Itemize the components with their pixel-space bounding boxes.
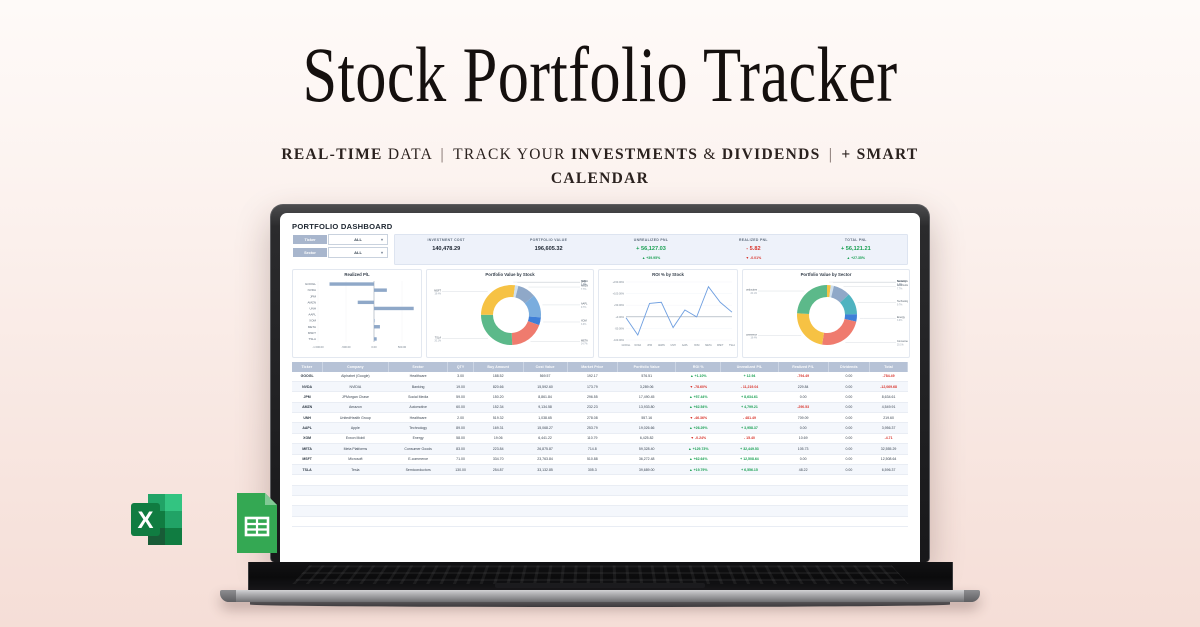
table-cell: AMZN bbox=[292, 402, 322, 412]
svg-text:Semiconductors: Semiconductors bbox=[746, 288, 758, 291]
table-cell: 0.00 bbox=[828, 381, 870, 391]
svg-text:JPM: JPM bbox=[581, 280, 586, 283]
subtitle-part-1: DATA bbox=[383, 146, 438, 163]
table-cell: + 8,634.61 bbox=[721, 392, 778, 402]
svg-text:+0.00%: +0.00% bbox=[615, 315, 624, 318]
table-cell: XOM bbox=[292, 433, 322, 443]
table-cell: 10.69 bbox=[778, 433, 828, 443]
table-cell-empty bbox=[828, 475, 870, 485]
table-header: TickerCompanySectorQTYBuy AmountCost Val… bbox=[292, 362, 908, 372]
table-cell: 17,490.45 bbox=[617, 392, 675, 402]
table-cell: 192.17 bbox=[567, 372, 617, 382]
svg-text:9.7%: 9.7% bbox=[581, 306, 586, 308]
table-cell-empty bbox=[448, 475, 474, 485]
column-header[interactable]: Unrealized P/L bbox=[721, 362, 778, 372]
table-cell: + 3,958.37 bbox=[721, 423, 778, 433]
table-row[interactable]: GOOGLAlphabet (Google)Healthcare3.00188.… bbox=[292, 372, 908, 382]
table-row-empty bbox=[292, 485, 908, 495]
table-body: GOOGLAlphabet (Google)Healthcare3.00188.… bbox=[292, 372, 908, 527]
table-cell-empty bbox=[870, 506, 908, 516]
table-cell-empty bbox=[448, 496, 474, 506]
kpi-label: INVESTMENT COST bbox=[395, 238, 497, 242]
table-cell: 26,875.87 bbox=[523, 444, 567, 454]
table-row-empty bbox=[292, 506, 908, 516]
table-cell: 0.00 bbox=[828, 433, 870, 443]
table-cell-empty bbox=[389, 516, 448, 526]
table-cell-empty bbox=[473, 516, 523, 526]
table-cell: 188.52 bbox=[473, 372, 523, 382]
table-cell: Technology bbox=[389, 423, 448, 433]
column-header[interactable]: Sector bbox=[389, 362, 448, 372]
table-cell-empty bbox=[292, 496, 322, 506]
svg-text:19.4%: 19.4% bbox=[750, 337, 757, 339]
table-cell: Tesla bbox=[322, 464, 388, 474]
column-header[interactable]: Total bbox=[870, 362, 908, 372]
table-cell-empty bbox=[322, 496, 388, 506]
kpi-label: TOTAL PNL bbox=[805, 238, 907, 242]
table-cell-empty bbox=[870, 496, 908, 506]
table-cell: ▲ +1.10% bbox=[676, 372, 721, 382]
table-cell-empty bbox=[778, 496, 828, 506]
svg-text:AMZN: AMZN bbox=[658, 344, 665, 347]
table-cell-empty bbox=[870, 516, 908, 526]
kpi-label: REALIZED PNL bbox=[702, 238, 804, 242]
chart-title: Portfolio Value by Sector bbox=[746, 272, 906, 277]
table-cell-empty bbox=[473, 496, 523, 506]
table-cell: 2.00 bbox=[448, 413, 474, 423]
svg-text:500.00: 500.00 bbox=[398, 345, 407, 349]
svg-text:META: META bbox=[308, 324, 316, 328]
table-cell: 19,026.66 bbox=[617, 423, 675, 433]
table-cell: 557.16 bbox=[617, 413, 675, 423]
kpi-value: - 5.82 bbox=[702, 246, 804, 252]
table-cell-empty bbox=[567, 506, 617, 516]
table-cell: 8,634.61 bbox=[870, 392, 908, 402]
chart-title: ROI % by Stock bbox=[602, 272, 734, 277]
table-cell: 152.34 bbox=[473, 402, 523, 412]
svg-text:AAPL: AAPL bbox=[682, 344, 689, 347]
stock-donut-chart: NVDA1.7%JPM1.4%AMZN7.7%AAPL9.7%XOM3.3%ME… bbox=[430, 278, 592, 354]
filter-dropdown-sector[interactable]: ALL▾ bbox=[328, 247, 388, 258]
table-cell: -794.49 bbox=[778, 372, 828, 382]
table-cell: 305.3 bbox=[567, 464, 617, 474]
svg-text:XOM: XOM bbox=[581, 319, 587, 322]
svg-text:Automotive: Automotive bbox=[897, 284, 908, 287]
kpi-value: 196,605.32 bbox=[497, 246, 599, 252]
table-cell: 150.20 bbox=[473, 392, 523, 402]
filter-dropdown-ticker[interactable]: ALL▾ bbox=[328, 234, 388, 245]
table-cell: 110.79 bbox=[567, 433, 617, 443]
filter-panel: TickerALL▾SectorALL▾ bbox=[292, 234, 388, 265]
filter-label: Sector bbox=[292, 247, 328, 258]
table-cell: 58.00 bbox=[448, 433, 474, 443]
subtitle-part-3: TRACK YOUR bbox=[453, 146, 571, 163]
table-cell: Alphabet (Google) bbox=[322, 372, 388, 382]
svg-text:XOM: XOM bbox=[309, 318, 316, 322]
kpi-value: + 56,127.03 bbox=[600, 246, 702, 252]
table-cell: 714.8 bbox=[567, 444, 617, 454]
svg-text:-500.00: -500.00 bbox=[341, 345, 351, 349]
table-cell-empty bbox=[721, 485, 778, 495]
table-cell-empty bbox=[567, 496, 617, 506]
svg-text:3.3%: 3.3% bbox=[897, 320, 902, 322]
table-cell: 254.87 bbox=[473, 464, 523, 474]
svg-text:NVDA: NVDA bbox=[634, 344, 641, 347]
table-cell: 19.06 bbox=[473, 433, 523, 443]
table-cell: 39,689.00 bbox=[617, 464, 675, 474]
table-cell: 3.00 bbox=[448, 372, 474, 382]
svg-text:7.7%: 7.7% bbox=[581, 289, 586, 291]
table-cell: 13,933.80 bbox=[617, 402, 675, 412]
table-cell: 0.00 bbox=[828, 372, 870, 382]
table-cell-empty bbox=[473, 506, 523, 516]
table-cell-empty bbox=[828, 516, 870, 526]
svg-text:9.7%: 9.7% bbox=[897, 304, 902, 306]
table-cell-empty bbox=[389, 496, 448, 506]
table-cell: JPMorgan Chase bbox=[322, 392, 388, 402]
chart-title: Portfolio Value by Stock bbox=[430, 272, 590, 277]
table-cell: 33,132.85 bbox=[523, 464, 567, 474]
chevron-down-icon: ▾ bbox=[381, 237, 383, 242]
svg-text:20.1%: 20.1% bbox=[434, 340, 441, 342]
table-cell: 576.51 bbox=[617, 372, 675, 382]
table-cell: 0.00 bbox=[828, 423, 870, 433]
table-cell: E-commerce bbox=[389, 454, 448, 464]
table-cell-empty bbox=[389, 485, 448, 495]
table-cell: 229.84 bbox=[778, 381, 828, 391]
svg-text:MSFT: MSFT bbox=[308, 330, 316, 334]
realized-pl-barchart: GOOGLNVDAJPMAMZNUNHAAPLXOMMETAMSFTTSLA-1… bbox=[296, 278, 420, 354]
svg-text:JPM: JPM bbox=[647, 344, 652, 347]
table-cell: 83.00 bbox=[448, 444, 474, 454]
page-title: Stock Portfolio Tracker bbox=[120, 0, 1080, 114]
table-cell-empty bbox=[448, 516, 474, 526]
kpi-card: INVESTMENT COST140,478.29 bbox=[395, 238, 497, 260]
table-cell: 820.66 bbox=[473, 381, 523, 391]
svg-text:NVDA: NVDA bbox=[308, 288, 316, 292]
table-cell: -784.49 bbox=[870, 372, 908, 382]
svg-text:META: META bbox=[581, 339, 588, 342]
holdings-table: TickerCompanySectorQTYBuy AmountCost Val… bbox=[292, 362, 908, 528]
table-cell-empty bbox=[322, 475, 388, 485]
table-cell: + 12.94 bbox=[721, 372, 778, 382]
table-cell: 59,328.40 bbox=[617, 444, 675, 454]
laptop-keyboard-deck bbox=[248, 562, 953, 590]
table-cell-empty bbox=[448, 506, 474, 516]
column-header[interactable]: ROI % bbox=[676, 362, 721, 372]
table-row[interactable]: JPMJPMorgan ChaseSocial Media59.00150.20… bbox=[292, 392, 908, 402]
subtitle-part-4: INVESTMENTS bbox=[571, 146, 698, 163]
subtitle-part-0: REAL-TIME bbox=[281, 146, 382, 163]
table-cell: 296.55 bbox=[567, 392, 617, 402]
page-subtitle: REAL-TIME DATA | TRACK YOUR INVESTMENTS … bbox=[0, 143, 1200, 191]
table-cell-empty bbox=[292, 475, 322, 485]
kpi-value: 140,478.29 bbox=[395, 246, 497, 252]
table-cell-empty bbox=[448, 485, 474, 495]
chart-title: Realized P/L bbox=[296, 272, 418, 277]
chart-roi-by-stock: ROI % by Stock +150.00%+100.00%+50.00%+0… bbox=[598, 269, 738, 358]
table-cell-empty bbox=[292, 506, 322, 516]
table-cell-empty bbox=[721, 516, 778, 526]
table-cell-empty bbox=[828, 496, 870, 506]
table-cell-empty bbox=[292, 516, 322, 526]
table-cell: 0.00 bbox=[778, 392, 828, 402]
sector-donut-chart: Banking1.7%Social Media1.4%Automotive7.7… bbox=[746, 278, 908, 354]
chart-realized-pl: Realized P/L GOOGLNVDAJPMAMZNUNHAAPLXOMM… bbox=[292, 269, 422, 358]
table-cell: ▲ +62.64% bbox=[676, 454, 721, 464]
table-row[interactable]: NVDANVIDIABanking19.00820.6615,592.60173… bbox=[292, 381, 908, 391]
table-cell-empty bbox=[322, 516, 388, 526]
table-cell: 6,596.37 bbox=[870, 464, 908, 474]
svg-text:X: X bbox=[137, 507, 153, 534]
table-cell: 232.23 bbox=[567, 402, 617, 412]
table-cell: - 11,219.04 bbox=[721, 381, 778, 391]
kpi-label: PORTFOLIO VALUE bbox=[497, 238, 599, 242]
table-cell: -12,069.68 bbox=[870, 381, 908, 391]
svg-text:UNH: UNH bbox=[671, 344, 676, 347]
table-cell: 0.00 bbox=[828, 413, 870, 423]
svg-text:TSLA: TSLA bbox=[435, 336, 442, 339]
table-cell-empty bbox=[322, 506, 388, 516]
table-cell: + 4,799.21 bbox=[721, 402, 778, 412]
table-cell: 0.00 bbox=[828, 464, 870, 474]
svg-text:E-commerce: E-commerce bbox=[746, 333, 758, 336]
table-cell-empty bbox=[676, 516, 721, 526]
svg-text:TSLA: TSLA bbox=[308, 337, 316, 341]
google-sheets-icon[interactable] bbox=[221, 488, 291, 558]
column-header[interactable]: Market Price bbox=[567, 362, 617, 372]
table-cell-empty bbox=[828, 485, 870, 495]
svg-text:-100.00%: -100.00% bbox=[613, 339, 624, 342]
table-cell: Exxon Mobil bbox=[322, 433, 388, 443]
filter-row-ticker: TickerALL▾ bbox=[292, 234, 388, 245]
svg-text:GOOGL: GOOGL bbox=[305, 282, 316, 286]
column-header[interactable]: Portfolio Value bbox=[617, 362, 675, 372]
table-cell: 23,763.84 bbox=[523, 454, 567, 464]
table-cell: ▲ +129.73% bbox=[676, 444, 721, 454]
svg-text:0.00: 0.00 bbox=[371, 345, 377, 349]
svg-text:TSLA: TSLA bbox=[729, 344, 735, 347]
svg-text:AMZN: AMZN bbox=[581, 284, 588, 287]
table-cell-empty bbox=[676, 485, 721, 495]
table-cell-empty bbox=[389, 506, 448, 516]
table-cell-empty bbox=[523, 475, 567, 485]
svg-text:20.1%: 20.1% bbox=[750, 293, 757, 295]
table-cell: 0.00 bbox=[828, 444, 870, 454]
table-cell-empty bbox=[870, 475, 908, 485]
table-cell-empty bbox=[721, 506, 778, 516]
app-icons: X bbox=[127, 488, 291, 558]
table-cell-empty bbox=[523, 496, 567, 506]
table-cell: 253.79 bbox=[567, 423, 617, 433]
table-cell: UNH bbox=[292, 413, 322, 423]
kpi-card: PORTFOLIO VALUE196,605.32 bbox=[497, 238, 599, 260]
kpi-value: + 56,121.21 bbox=[805, 246, 907, 252]
svg-text:+50.00%: +50.00% bbox=[614, 304, 625, 307]
svg-text:META: META bbox=[705, 344, 712, 347]
table-cell: 6,441.22 bbox=[523, 433, 567, 443]
table-cell: ▼ -46.36% bbox=[676, 413, 721, 423]
svg-text:14.7%: 14.7% bbox=[581, 343, 588, 345]
table-cell-empty bbox=[523, 516, 567, 526]
table-cell: 519.32 bbox=[473, 413, 523, 423]
svg-text:7.7%: 7.7% bbox=[897, 288, 902, 290]
table-cell: MSFT bbox=[292, 454, 322, 464]
table-cell-empty bbox=[567, 516, 617, 526]
subtitle-part-6: DIVIDENDS bbox=[722, 146, 821, 163]
table-cell: NVDA bbox=[292, 381, 322, 391]
table-cell: 15,068.27 bbox=[523, 423, 567, 433]
table-cell: 12,508.64 bbox=[870, 454, 908, 464]
table-cell-empty bbox=[778, 516, 828, 526]
svg-text:Energy: Energy bbox=[897, 315, 906, 318]
laptop-lid: PORTFOLIO DASHBOARD TickerALL▾SectorALL▾… bbox=[270, 204, 930, 562]
svg-text:-1 000.00: -1 000.00 bbox=[312, 345, 324, 349]
chart-portfolio-value-by-sector: Portfolio Value by Sector Banking1.7%Soc… bbox=[742, 269, 910, 358]
table-cell: 709.09 bbox=[778, 413, 828, 423]
table-row[interactable]: METAMeta PlatformsConsumer Goods83.00223… bbox=[292, 444, 908, 454]
table-cell: 0.00 bbox=[828, 454, 870, 464]
kpi-delta: ▲ +39.95% bbox=[600, 256, 702, 260]
excel-icon[interactable]: X bbox=[127, 488, 197, 558]
kpi-label: UNREALIZED PNL bbox=[600, 238, 702, 242]
table-cell: 105.73 bbox=[778, 444, 828, 454]
table-cell: 48.22 bbox=[778, 464, 828, 474]
table-cell: 0.00 bbox=[828, 402, 870, 412]
kpi-strip: INVESTMENT COST140,478.29PORTFOLIO VALUE… bbox=[394, 234, 908, 265]
charts-row: Realized P/L GOOGLNVDAJPMAMZNUNHAAPLXOMM… bbox=[288, 265, 912, 358]
table-cell: 278.08 bbox=[567, 413, 617, 423]
table-cell: META bbox=[292, 444, 322, 454]
table-cell-empty bbox=[567, 475, 617, 485]
table-row[interactable]: XOMExxon MobilEnergy58.0019.066,441.2211… bbox=[292, 433, 908, 443]
table-row[interactable]: AMZNAmazonAutomotive60.00152.349,134.582… bbox=[292, 402, 908, 412]
dashboard-title: PORTFOLIO DASHBOARD bbox=[288, 220, 912, 234]
table-row[interactable]: UNHUnitedHealth GroupHealthcare2.00519.3… bbox=[292, 413, 908, 423]
svg-text:MSFT: MSFT bbox=[434, 289, 441, 292]
kpi-delta: ▲ +27.35% bbox=[805, 256, 907, 260]
table-cell-empty bbox=[473, 475, 523, 485]
column-header[interactable]: Buy Amount bbox=[473, 362, 523, 372]
column-header[interactable]: Ticker bbox=[292, 362, 322, 372]
table-row[interactable]: MSFTMicrosoftE-commerce71.00334.7023,763… bbox=[292, 454, 908, 464]
table-cell: -290.53 bbox=[778, 402, 828, 412]
table-cell: 8,861.84 bbox=[523, 392, 567, 402]
chevron-down-icon: ▾ bbox=[381, 250, 383, 255]
table-cell: ▼ -0.24% bbox=[676, 433, 721, 443]
table-cell: Healthcare bbox=[389, 413, 448, 423]
svg-text:AMZN: AMZN bbox=[308, 300, 317, 304]
subtitle-separator: | bbox=[821, 146, 842, 163]
svg-text:XOM: XOM bbox=[694, 344, 699, 347]
table-cell: ▼ -78.60% bbox=[676, 381, 721, 391]
subtitle-part-5: & bbox=[698, 146, 722, 163]
column-header[interactable]: QTY bbox=[448, 362, 474, 372]
column-header[interactable]: Realized P/L bbox=[778, 362, 828, 372]
table-cell: Automotive bbox=[389, 402, 448, 412]
roi-linechart: +150.00%+100.00%+50.00%+0.00%-50.00%-100… bbox=[602, 278, 736, 354]
table-cell: 219.60 bbox=[870, 413, 908, 423]
table-cell: 0.00 bbox=[778, 454, 828, 464]
table-cell-empty bbox=[676, 506, 721, 516]
table-cell: 3,289.06 bbox=[617, 381, 675, 391]
table-cell-empty bbox=[778, 506, 828, 516]
filter-row-sector: SectorALL▾ bbox=[292, 247, 388, 258]
table-cell: Apple bbox=[322, 423, 388, 433]
table-cell-empty bbox=[617, 506, 675, 516]
column-header[interactable]: Company bbox=[322, 362, 388, 372]
table-cell: 15,592.60 bbox=[523, 381, 567, 391]
table-cell-empty bbox=[617, 516, 675, 526]
svg-text:-50.00%: -50.00% bbox=[615, 327, 625, 330]
table-cell: ▲ +19.79% bbox=[676, 464, 721, 474]
table-cell: - 481.49 bbox=[721, 413, 778, 423]
table-cell: Consumer Goods bbox=[389, 444, 448, 454]
kpi-delta: ▼ -0.01% bbox=[702, 256, 804, 260]
kpi-card: TOTAL PNL+ 56,121.21▲ +27.35% bbox=[805, 238, 907, 260]
table-cell: 334.70 bbox=[473, 454, 523, 464]
table-cell: Amazon bbox=[322, 402, 388, 412]
table-cell-empty bbox=[322, 485, 388, 495]
table-cell: 4,549.91 bbox=[870, 402, 908, 412]
table-row-empty bbox=[292, 475, 908, 485]
table-cell: Banking bbox=[389, 381, 448, 391]
table-cell: Microsoft bbox=[322, 454, 388, 464]
table-cell-empty bbox=[473, 485, 523, 495]
table-cell: Meta Platforms bbox=[322, 444, 388, 454]
table-row[interactable]: TSLATeslaSemiconductors130.00254.8733,13… bbox=[292, 464, 908, 474]
table-cell: 510.88 bbox=[567, 454, 617, 464]
table-row[interactable]: AAPLAppleTechnology89.00169.3115,068.272… bbox=[292, 423, 908, 433]
svg-text:20.1%: 20.1% bbox=[897, 344, 904, 346]
kpi-card: UNREALIZED PNL+ 56,127.03▲ +39.95% bbox=[600, 238, 702, 260]
subtitle-separator: | bbox=[437, 146, 453, 163]
column-header[interactable]: Cost Value bbox=[523, 362, 567, 372]
table-cell-empty bbox=[617, 496, 675, 506]
table-cell-empty bbox=[778, 475, 828, 485]
table-cell: ▲ +62.54% bbox=[676, 402, 721, 412]
table-cell: - 15.40 bbox=[721, 433, 778, 443]
table-cell: 71.00 bbox=[448, 454, 474, 464]
svg-text:AAPL: AAPL bbox=[581, 302, 588, 305]
table-cell: + 6,556.15 bbox=[721, 464, 778, 474]
svg-text:JPM: JPM bbox=[310, 294, 317, 298]
table-cell: 60.00 bbox=[448, 402, 474, 412]
svg-text:Social Media: Social Media bbox=[897, 280, 908, 283]
table-cell-empty bbox=[721, 475, 778, 485]
table-cell: 0.00 bbox=[828, 392, 870, 402]
table-cell: Semiconductors bbox=[389, 464, 448, 474]
svg-text:Technology: Technology bbox=[897, 300, 908, 303]
table-cell: 36,272.48 bbox=[617, 454, 675, 464]
table-cell: 89.00 bbox=[448, 423, 474, 433]
svg-text:MSFT: MSFT bbox=[717, 344, 724, 347]
laptop-mockup: PORTFOLIO DASHBOARD TickerALL▾SectorALL▾… bbox=[220, 204, 980, 607]
svg-text:3.3%: 3.3% bbox=[581, 323, 586, 325]
laptop-screen: PORTFOLIO DASHBOARD TickerALL▾SectorALL▾… bbox=[280, 213, 920, 562]
table-cell-empty bbox=[523, 485, 567, 495]
table-cell-empty bbox=[676, 475, 721, 485]
column-header[interactable]: Dividends bbox=[828, 362, 870, 372]
table-cell: 0.00 bbox=[778, 423, 828, 433]
table-cell-empty bbox=[567, 485, 617, 495]
table-cell: 130.00 bbox=[448, 464, 474, 474]
table-cell: 169.31 bbox=[473, 423, 523, 433]
table-cell: 223.84 bbox=[473, 444, 523, 454]
table-cell-empty bbox=[778, 485, 828, 495]
table-cell: 1,038.65 bbox=[523, 413, 567, 423]
table-cell: JPM bbox=[292, 392, 322, 402]
